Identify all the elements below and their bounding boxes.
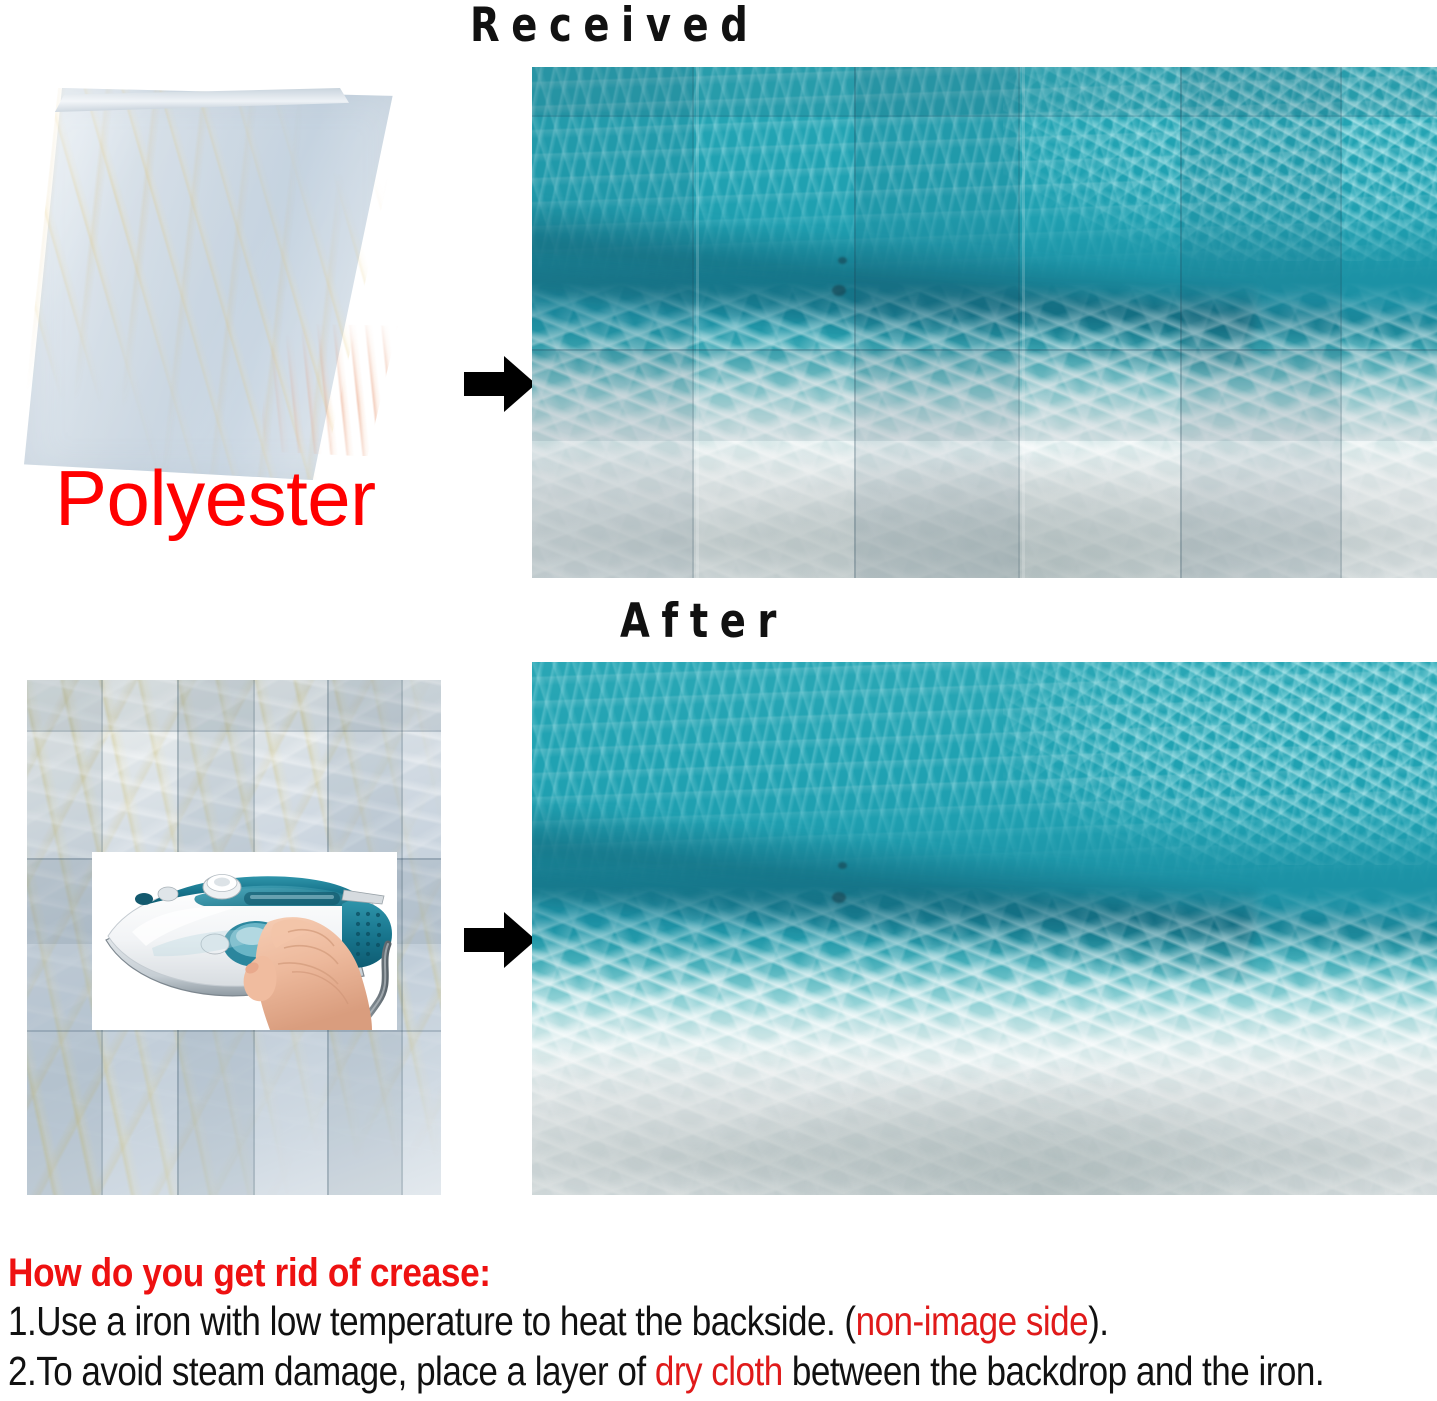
care-heading: How do you get rid of crease: [8,1252,1266,1295]
polyester-label: Polyester [55,459,376,537]
bright-ripples [1003,662,1437,865]
arrow-right-icon [464,912,538,968]
steam-iron-icon [92,852,397,1030]
pebble [832,285,846,296]
bright-ripples [1003,67,1437,261]
received-photo [532,67,1437,578]
care-line-1: 1.Use a iron with low temperature to hea… [8,1299,1230,1345]
after-section-title: After [620,598,788,645]
polyester-swatch-image [18,88,418,480]
sand-shading [532,1014,1437,1195]
arrow-right-icon [464,356,538,412]
pebble [838,862,847,869]
care-instructions: How do you get rid of crease: 1.Use a ir… [8,1252,1437,1395]
care-line-1-suffix: ). [1088,1298,1108,1344]
received-section-title: Received [470,2,759,49]
iron-demo-photo [92,852,397,1030]
after-photo [532,662,1437,1195]
arrow-shaft [464,372,508,396]
care-line-1-prefix: 1.Use a iron with low temperature to hea… [8,1298,856,1344]
care-line-2-highlight: dry cloth [655,1348,783,1394]
pebble [838,257,847,264]
care-line-2-prefix: 2.To avoid steam damage, place a layer o… [8,1348,655,1394]
care-line-2-suffix: between the backdrop and the iron. [783,1348,1324,1394]
arrow-shaft [464,928,508,952]
sand-shading [532,404,1437,578]
pebble [832,892,846,903]
care-line-1-highlight: non-image side [856,1298,1089,1344]
care-line-2: 2.To avoid steam damage, place a layer o… [8,1349,1230,1395]
